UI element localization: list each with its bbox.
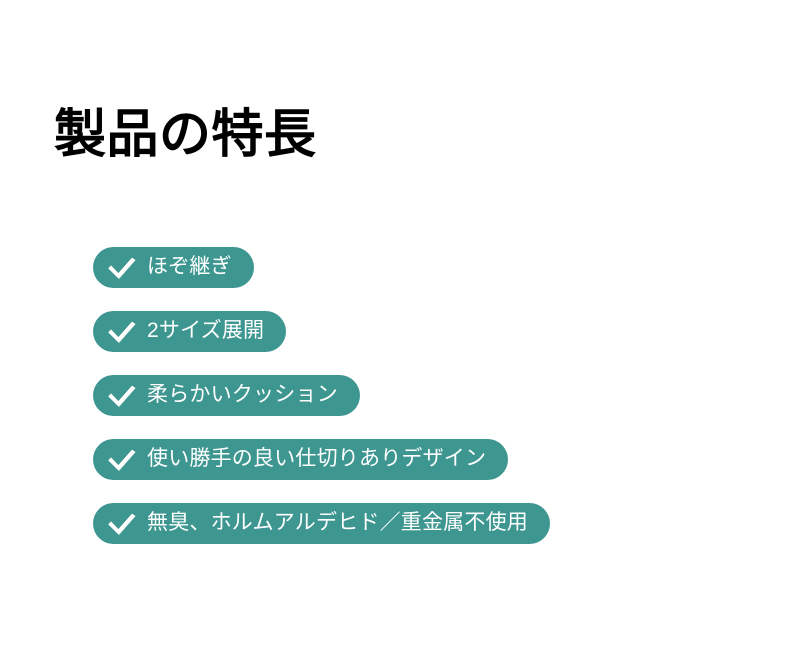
- check-icon: [105, 319, 139, 345]
- feature-label: 柔らかいクッション: [147, 384, 338, 407]
- check-icon: [105, 383, 139, 409]
- product-features-page: 製品の特長 ほぞ継ぎ 2サイズ展開 柔らかいクッション 使い勝手の良い仕切りあり…: [0, 0, 790, 657]
- page-title: 製品の特長: [54, 106, 317, 164]
- feature-pill: 柔らかいクッション: [93, 375, 360, 416]
- feature-label: 2サイズ展開: [147, 320, 264, 343]
- feature-label: 無臭、ホルムアルデヒド／重金属不使用: [147, 512, 528, 535]
- feature-label: 使い勝手の良い仕切りありデザイン: [147, 448, 486, 471]
- check-icon: [105, 447, 139, 473]
- feature-pill: 無臭、ホルムアルデヒド／重金属不使用: [93, 503, 550, 544]
- feature-pill: ほぞ継ぎ: [93, 247, 254, 288]
- feature-pill: 使い勝手の良い仕切りありデザイン: [93, 439, 508, 480]
- feature-pill: 2サイズ展開: [93, 311, 286, 352]
- feature-list: ほぞ継ぎ 2サイズ展開 柔らかいクッション 使い勝手の良い仕切りありデザイン 無: [93, 247, 550, 544]
- check-icon: [105, 511, 139, 537]
- feature-label: ほぞ継ぎ: [147, 256, 232, 279]
- check-icon: [105, 255, 139, 281]
